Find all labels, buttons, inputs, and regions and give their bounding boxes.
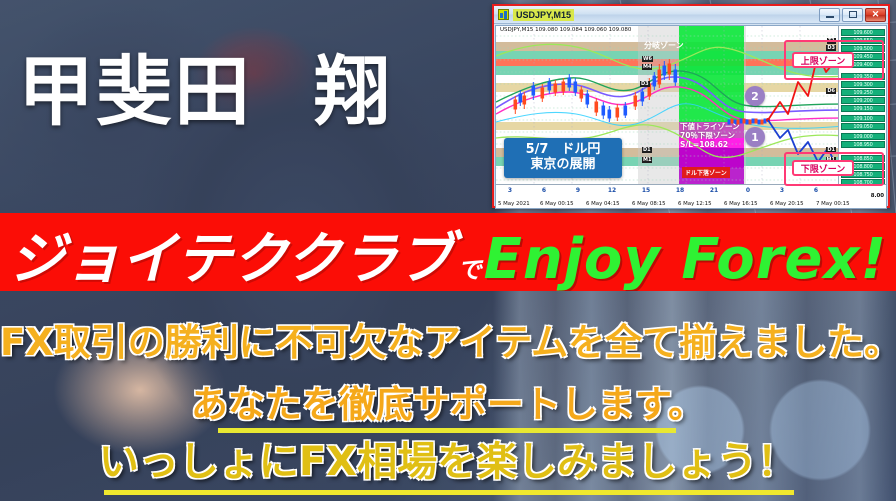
magenta-note-line3: S/L=108.62 — [680, 140, 740, 149]
time-tick: 21 — [710, 187, 718, 194]
minimize-icon — [826, 16, 834, 18]
person-surname: 甲斐田 — [18, 54, 252, 130]
banner-club-name: ジョイテククラブ — [9, 214, 454, 292]
chart-note-line2: 東京の展開 — [530, 158, 595, 173]
maximize-button[interactable] — [842, 8, 863, 22]
time-label: 6 May 00:15 — [540, 201, 574, 207]
price-label: 109.050 — [841, 123, 885, 130]
banner-tagline-en: Enjoy Forex! — [484, 227, 887, 292]
line-tag-d3-mid: D3 — [640, 81, 650, 87]
time-tick: 3 — [780, 187, 784, 194]
price-label: 108.950 — [841, 141, 885, 148]
message-line-2: あなたを徹底サポートします。 — [0, 386, 896, 423]
price-label: 109.250 — [841, 89, 885, 96]
chart-note-box: 5/7 ドル円 東京の展開 — [504, 138, 622, 178]
red-banner: ジョイテククラブ で Enjoy Forex! — [0, 213, 896, 291]
person-name: 甲斐田 翔 — [18, 42, 488, 142]
chart-note-line1: 5/7 ドル円 — [526, 143, 601, 158]
time-tick: 18 — [676, 187, 684, 194]
time-label: 6 May 08:15 — [632, 201, 666, 207]
time-tick: 12 — [608, 187, 616, 194]
price-label: 109.100 — [841, 115, 885, 122]
price-label: 109.150 — [841, 105, 885, 112]
price-label: 109.200 — [841, 97, 885, 104]
magenta-note: 下値トライゾーン 70％下限ゾーン S/L=108.62 — [680, 122, 740, 149]
price-label: 109.000 — [841, 133, 885, 140]
chart-window-icon — [498, 9, 509, 20]
time-tick: 0 — [746, 187, 750, 194]
message-line-1: FX取引の勝利に不可欠なアイテムを全て揃えました。 — [0, 324, 896, 361]
time-tick: 15 — [642, 187, 650, 194]
window-title-bar[interactable]: USDJPY,M15 ✕ — [494, 6, 888, 24]
time-tick: 3 — [508, 187, 512, 194]
time-tick: 6 — [814, 187, 818, 194]
banner-particle: で — [454, 250, 484, 285]
minimize-button[interactable] — [819, 8, 840, 22]
price-axis-corner-value: 8.00 — [871, 193, 884, 199]
time-label: 5 May 2021 — [498, 201, 530, 207]
chart-canvas-area[interactable]: USDJPY,M15 109.080 109.084 109.060 109.0… — [495, 25, 887, 209]
message-line-3: いっしょにFX相場を楽しみましょう！ — [0, 442, 896, 482]
lower-zone-tag[interactable]: 下限ゾーン — [792, 160, 854, 176]
window-controls: ✕ — [819, 8, 886, 22]
upper-zone-tag[interactable]: 上限ゾーン — [792, 52, 854, 68]
line-tag-w6-mid: W6 — [642, 56, 653, 62]
magenta-note-line2: 70％下限ゾーン — [680, 131, 740, 140]
time-label: 6 May 12:15 — [678, 201, 712, 207]
time-label: 7 May 00:15 — [816, 201, 850, 207]
bubble-marker-1: 1 — [745, 127, 765, 147]
line-tag-m1: M1 — [642, 157, 652, 163]
line-tag-d6: D6 — [826, 88, 836, 94]
time-label: 6 May 04:15 — [586, 201, 620, 207]
price-label: 109.300 — [841, 81, 885, 88]
red-zone-note: ドル下落ゾーン — [682, 167, 730, 178]
promo-banner: 甲斐田 翔 USDJPY,M15 ✕ — [0, 0, 896, 501]
time-axis: 3 6 9 12 15 18 21 0 3 6 5 May 2021 6 May… — [496, 184, 886, 208]
ohlc-quote-text: USDJPY,M15 109.080 109.084 109.060 109.0… — [499, 27, 632, 33]
red-banner-inner: ジョイテククラブ で Enjoy Forex! — [9, 214, 887, 292]
time-tick: 9 — [576, 187, 580, 194]
zone-label-branch: 分岐ゾーン — [644, 40, 684, 51]
time-label: 6 May 20:15 — [770, 201, 804, 207]
line-tag-m4-mid: M4 — [642, 64, 652, 70]
magenta-note-line1: 下値トライゾーン — [680, 122, 740, 131]
mt4-chart-window[interactable]: USDJPY,M15 ✕ — [492, 4, 890, 208]
price-label: 109.600 — [841, 29, 885, 36]
time-label: 6 May 16:15 — [724, 201, 758, 207]
time-tick: 6 — [542, 187, 546, 194]
line-tag-d1: D1 — [642, 147, 652, 153]
close-button[interactable]: ✕ — [865, 8, 886, 22]
maximize-icon — [849, 11, 857, 18]
close-icon: ✕ — [872, 10, 880, 19]
window-title-text: USDJPY,M15 — [513, 9, 574, 21]
person-given-name: 翔 — [314, 54, 392, 130]
bubble-marker-2: 2 — [745, 86, 765, 106]
